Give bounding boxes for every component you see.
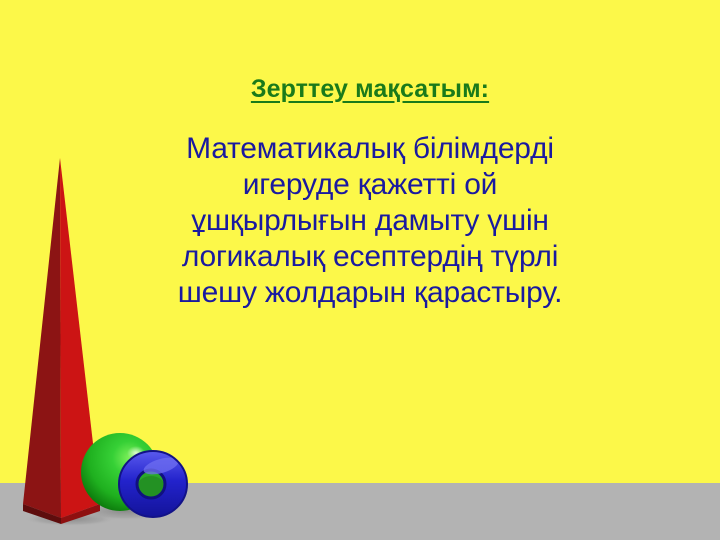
body-line: Математикалық білімдерді	[110, 131, 630, 167]
body-line: шешу жолдарын қарастыру.	[110, 275, 630, 311]
body-paragraph: Математикалық білімдерді игеруде қажетті…	[110, 105, 630, 311]
body-line: игеруде қажетті ой	[110, 167, 630, 203]
sphere-highlight	[127, 446, 145, 460]
text-block: Зерттеу мақсатым: Математикалық білімдер…	[110, 74, 630, 311]
pyramid-left-face	[23, 158, 61, 518]
pyramid-right-face	[60, 158, 100, 518]
page-title: Зерттеу мақсатым:	[110, 74, 630, 105]
floor-plane	[0, 483, 720, 540]
body-line: логикалық есептердің түрлі	[110, 239, 630, 275]
presentation-slide: Зерттеу мақсатым: Математикалық білімдер…	[0, 0, 720, 540]
torus-tube-sheen	[142, 454, 180, 477]
body-line: ұшқырлығын дамыту үшін	[110, 203, 630, 239]
red-pyramid	[23, 158, 100, 524]
